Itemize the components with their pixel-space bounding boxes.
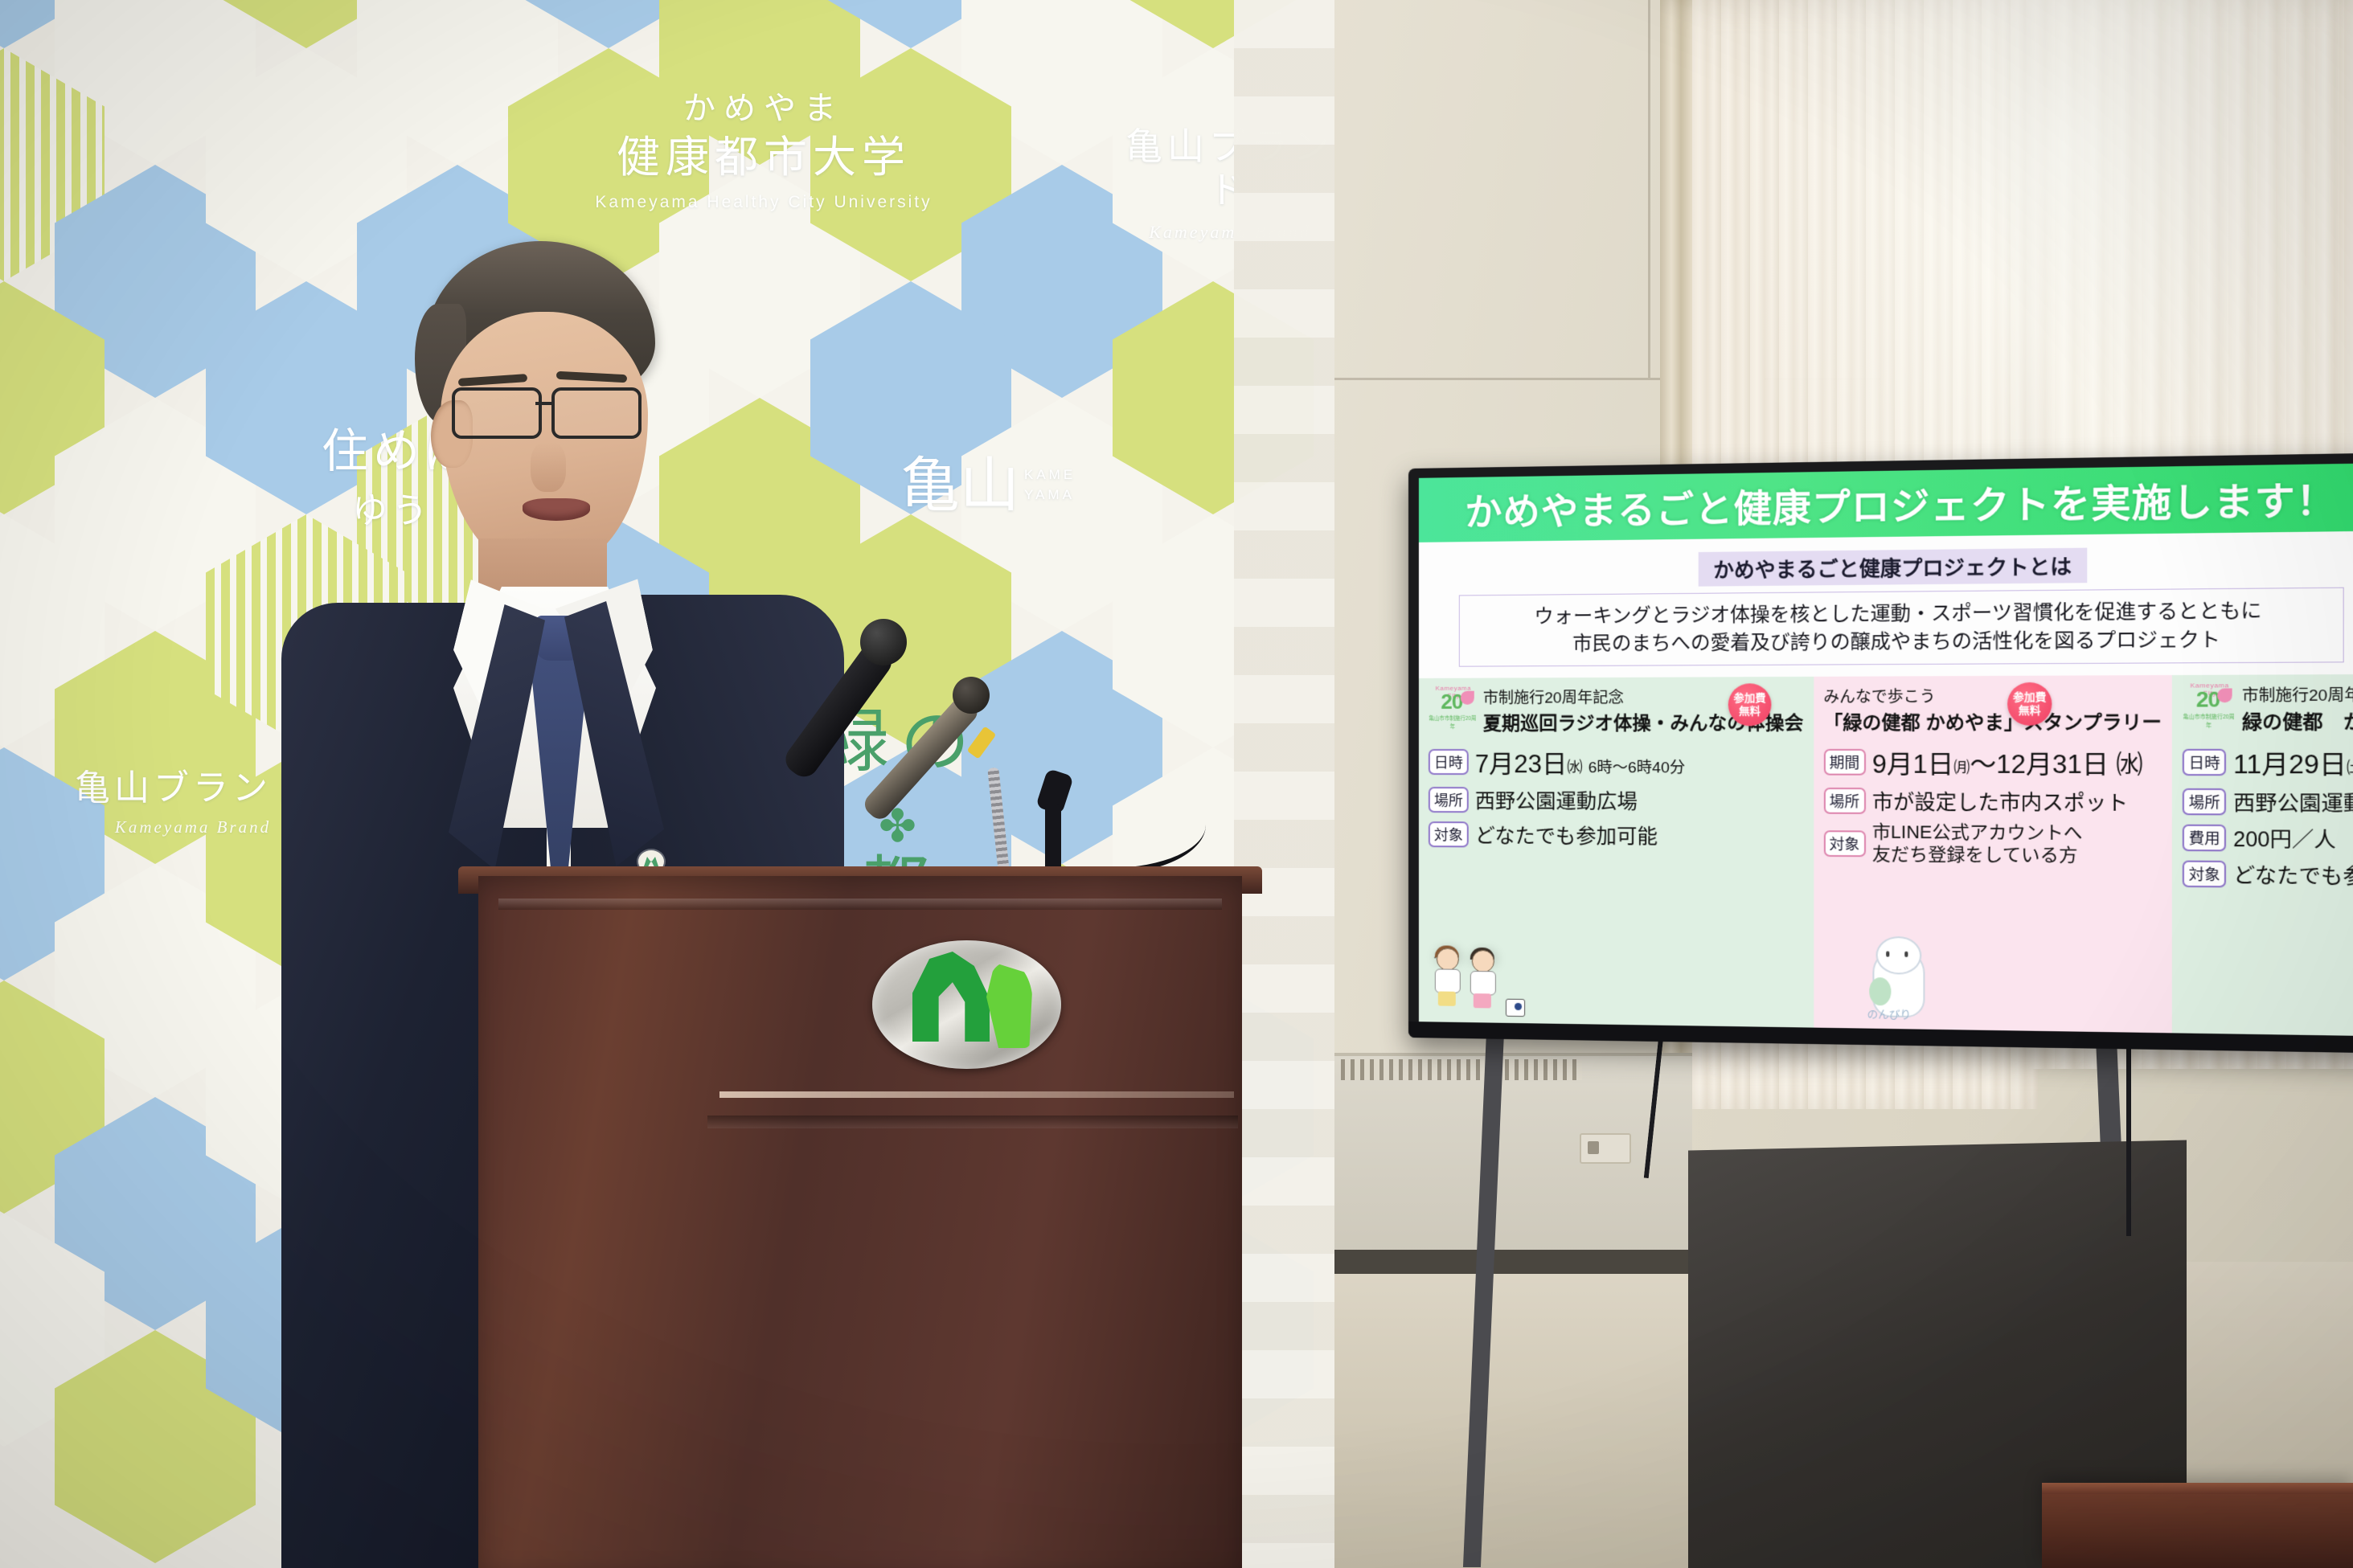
card3-day: ㈯ [2347, 760, 2353, 778]
card1-row-place: 場所 西野公園運動広場 [1429, 785, 1804, 816]
child-illustration-1 [1432, 948, 1461, 1008]
free-badge-2-line2: 無料 [2007, 704, 2052, 718]
card2-row-place: 場所 市が設定した市内スポット [1823, 786, 2162, 817]
card1-row-target: 対象 どなたでも参加可能 [1429, 820, 1804, 851]
nose [531, 442, 566, 492]
free-badge-1-line1: 参加費 [1728, 692, 1772, 706]
event-cards: Kameyama City 20 亀山市市制施行20周年 市制施行20周年記念 … [1419, 674, 2353, 1036]
card2-header: みんなで歩こう 「緑の健都 かめやま」スタンプラリー [1823, 684, 2162, 735]
mascot-eye-left [1886, 951, 1889, 956]
press-conference-photo: かめやま 健康都市大学 Kameyama Healthy City Univer… [0, 0, 2353, 1568]
card1-time: 6時〜6時40分 [1588, 759, 1686, 776]
lens-left [452, 387, 542, 439]
second-microphone-head [953, 677, 990, 714]
card3-row-target: 対象 どなたでも参加可能 [2183, 859, 2353, 892]
free-badge-2: 参加費 無料 [2007, 682, 2052, 726]
card2-value-period: 9月1日㈪〜12月31日 ㈬ [1872, 743, 2143, 781]
card2-start-date: 9月1日 [1872, 750, 1953, 779]
emblem-arc-light [986, 963, 1033, 1048]
event-card-walking: Kameyama City 20 亀山市市制施行20周年 市制施行20周年記念 … [2172, 673, 2353, 1036]
podium-bevel [498, 899, 1222, 910]
mascot-signature: のんびり [1867, 1005, 1912, 1021]
card2-value-place: 市が設定した市内スポット [1872, 786, 2128, 817]
university-line3: Kameyama Healthy City University [563, 193, 965, 213]
slide-subtitle: かめやまるごと健康プロジェクトとは [1699, 548, 2088, 587]
radio-icon [1506, 999, 1525, 1017]
card1-tag-place: 場所 [1429, 787, 1469, 813]
card2-target-line2: 友だち登録をしている方 [1872, 843, 2082, 866]
card3-row-datetime: 日時 11月29日㈯ 9時〜12時 [2183, 743, 2353, 781]
lens-right [551, 387, 642, 439]
mascot-head [1875, 936, 1921, 975]
logo-bottom-text: 亀山市市制施行20周年 [1429, 714, 1477, 730]
wall-seam [1648, 0, 1650, 378]
card3-tag-target: 対象 [2183, 861, 2226, 888]
free-badge-1-line2: 無料 [1728, 705, 1772, 718]
child1-legs [1438, 991, 1456, 1005]
child1-body [1435, 968, 1461, 993]
child1-head [1437, 948, 1459, 970]
child2-body [1470, 971, 1496, 996]
card3-titles: 市制施行20周年記念 緑の健都 かめやま de ウォーキング [2242, 682, 2353, 735]
banner-right-edge [1234, 0, 1334, 1568]
card3-row-fee: 費用 200円／人 [2183, 823, 2353, 855]
card2-rows: 期間 9月1日㈪〜12月31日 ㈬ 場所 市が設定した市内スポット 対象 [1823, 743, 2162, 867]
anniversary-20-logo-icon: Kameyama City 20 亀山市市制施行20周年 [1429, 686, 1478, 727]
slide-title-text: かめやまるごと健康プロジェクトを実施します！ [1465, 469, 2337, 536]
university-line2: 健康都市大学 [563, 133, 965, 184]
nonbiri-mascot-illustration: のんびり [1863, 935, 1931, 1026]
backdrop-kameyama-mark: 亀山 KAME YAMA [900, 450, 1125, 520]
kameyama-romaji-bottom: YAMA [1024, 485, 1076, 506]
card2-heading2: 「緑の健都 かめやま」スタンプラリー [1823, 706, 2162, 735]
event-card-stamp-rally: みんなで歩こう 「緑の健都 かめやま」スタンプラリー 期間 9月1日㈪〜12月3… [1814, 675, 2172, 1033]
card3-heading1: 市制施行20周年記念 [2242, 682, 2353, 706]
mouth [523, 498, 590, 521]
handheld-microphone-head [860, 619, 907, 665]
logo2-bottom-text: 亀山市市制施行20周年 [2183, 712, 2235, 729]
card2-tag-place: 場所 [1823, 788, 1865, 814]
card3-row-place: 場所 西野公園運動広場 発着 [2183, 787, 2353, 818]
backdrop-university-logo: かめやま 健康都市大学 Kameyama Healthy City Univer… [563, 90, 965, 213]
radiator-base [1330, 1250, 1692, 1274]
free-badge-1: 参加費 無料 [1728, 683, 1772, 726]
event-card-radio-exercise: Kameyama City 20 亀山市市制施行20周年 市制施行20周年記念 … [1419, 677, 1814, 1028]
card1-row-datetime: 日時 7月23日㈬ 6時〜6時40分 [1429, 743, 1804, 780]
display-screen[interactable]: かめやまるごと健康プロジェクトを実施します！ かめやまるごと健康プロジェクトとは… [1419, 463, 2353, 1036]
card3-tag-datetime: 日時 [2183, 748, 2226, 775]
slide: かめやまるごと健康プロジェクトを実施します！ かめやまるごと健康プロジェクトとは… [1419, 463, 2353, 1036]
foreground-table [2042, 1483, 2353, 1568]
card3-rows: 日時 11月29日㈯ 9時〜12時 場所 西野公園運動広場 発着 費用 [2183, 743, 2353, 892]
card2-end-date: 〜12月31日 ㈬ [1970, 750, 2142, 779]
card2-target-line1: 市LINE公式アカウントへ [1872, 821, 2082, 844]
card3-value-fee: 200円／人 [2233, 823, 2336, 854]
child2-legs [1474, 993, 1491, 1008]
card3-header: Kameyama City 20 亀山市市制施行20周年 市制施行20周年記念 … [2183, 682, 2353, 735]
anniversary-20-logo-icon-2: Kameyama City 20 亀山市市制施行20周年 [2183, 683, 2236, 725]
card3-value-target: どなたでも参加可能 [2233, 859, 2353, 890]
emblem-arc-dark [912, 952, 990, 1042]
podium-accent-line [719, 1091, 1234, 1098]
glasses-bridge [535, 402, 555, 405]
card3-date: 11月29日 [2233, 750, 2347, 780]
university-line1: かめやま [563, 90, 965, 128]
card2-tag-period: 期間 [1823, 749, 1865, 776]
card3-tag-fee: 費用 [2183, 825, 2226, 852]
card1-rows: 日時 7月23日㈬ 6時〜6時40分 場所 西野公園運動広場 対象 [1429, 743, 1804, 851]
card2-row-period: 期間 9月1日㈪〜12月31日 ㈬ [1823, 743, 2162, 781]
kameyama-kanji: 亀山 [900, 450, 1019, 520]
eyeglasses [452, 387, 642, 437]
card1-tag-datetime: 日時 [1429, 749, 1469, 775]
radiator-grille [1341, 1059, 1582, 1080]
podium [478, 876, 1242, 1568]
children-exercising-illustration [1432, 943, 1528, 1018]
free-badge-2-line1: 参加費 [2007, 690, 2052, 704]
card2-start-day: ㈪ [1953, 759, 1970, 777]
microphone-stand-post [1045, 804, 1061, 876]
presentation-display[interactable]: かめやまるごと健康プロジェクトを実施します！ かめやまるごと健康プロジェクトとは… [1408, 452, 2353, 1054]
slide-title-bar: かめやまるごと健康プロジェクトを実施します！ [1419, 463, 2353, 542]
card2-row-target: 対象 市LINE公式アカウントへ 友だち登録をしている方 [1823, 821, 2162, 867]
card1-value-place: 西野公園運動広場 [1475, 785, 1638, 815]
card2-value-target: 市LINE公式アカウントへ 友だち登録をしている方 [1872, 821, 2082, 866]
card1-day: ㈬ [1567, 759, 1582, 776]
card1-value-datetime: 7月23日㈬ 6時〜6時40分 [1475, 743, 1685, 780]
kameyama-city-emblem-icon [912, 945, 1033, 1042]
card1-date: 7月23日 [1475, 750, 1568, 778]
child2-head [1472, 950, 1494, 972]
description-line2: 市民のまちへの愛着及び誇りの醸成やまちの活性化を図るプロジェクト [1471, 625, 2330, 658]
card3-tag-place: 場所 [2183, 788, 2226, 816]
card1-value-target: どなたでも参加可能 [1475, 820, 1658, 850]
slide-description: ウォーキングとラジオ体操を核とした運動・スポーツ習慣化を促進するとともに 市民の… [1459, 587, 2344, 667]
card3-value-place: 西野公園運動広場 発着 [2233, 787, 2353, 818]
podium-groove [707, 1116, 1238, 1128]
mascot-shell [1869, 977, 1891, 1005]
kameyama-romaji-top: KAME [1024, 465, 1076, 485]
foreground-table-edge [2042, 1483, 2353, 1494]
card1-tag-target: 対象 [1429, 821, 1469, 847]
card2-heading1: みんなで歩こう [1823, 684, 2162, 707]
mascot-eye-right [1904, 952, 1908, 957]
card3-heading2: 緑の健都 かめやま de ウォーキング [2242, 705, 2353, 735]
card2-titles: みんなで歩こう 「緑の健都 かめやま」スタンプラリー [1823, 684, 2162, 735]
card2-tag-target: 対象 [1823, 830, 1865, 857]
card3-value-datetime: 11月29日㈯ 9時〜12時 [2233, 743, 2353, 781]
child-illustration-2 [1467, 950, 1496, 1010]
